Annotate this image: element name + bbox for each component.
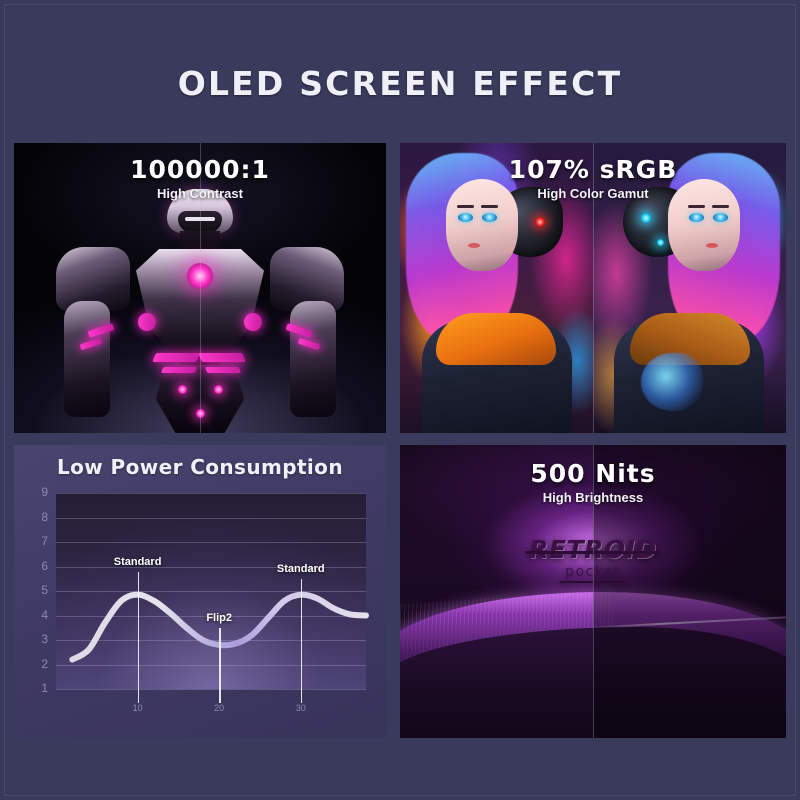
y-tick-4: 4 <box>26 608 48 622</box>
power-curve <box>56 493 366 689</box>
y-tick-6: 6 <box>26 559 48 573</box>
marker-label-standard: Standard <box>114 556 162 568</box>
power-chart: 987654321 102030 <box>14 485 386 738</box>
y-tick-3: 3 <box>26 632 48 646</box>
gamut-split-divider <box>593 143 594 433</box>
y-tick-8: 8 <box>26 510 48 524</box>
brightness-compare-overlay <box>593 445 786 738</box>
x-tick-30: 30 <box>286 703 316 713</box>
marker-label-standard: Standard <box>277 563 325 575</box>
marker-line-standard <box>301 579 303 703</box>
gridline <box>56 689 366 690</box>
panel-high-contrast: 100000:1 High Contrast <box>14 143 386 433</box>
plot-area: StandardFlip2Standard <box>56 493 366 689</box>
y-tick-5: 5 <box>26 583 48 597</box>
chart-title: Low Power Consumption <box>14 455 386 479</box>
x-tick-10: 10 <box>123 703 153 713</box>
y-tick-7: 7 <box>26 534 48 548</box>
gamut-portrait-left <box>400 143 593 433</box>
gamut-portrait-right <box>593 143 786 433</box>
marker-line-flip2 <box>219 628 221 703</box>
panel-color-gamut: 107% sRGB High Color Gamut <box>400 143 786 433</box>
panel-high-brightness: RETROID pocket 500 Nits High Brightness <box>400 445 786 738</box>
y-tick-2: 2 <box>26 657 48 671</box>
cyberpunk-portrait-a <box>400 143 593 433</box>
y-tick-9: 9 <box>26 485 48 499</box>
page-title: OLED SCREEN EFFECT <box>0 64 800 103</box>
nits-split-divider <box>593 445 594 738</box>
cyberpunk-portrait-b <box>593 143 786 433</box>
x-tick-20: 20 <box>204 703 234 713</box>
contrast-split-divider <box>200 143 201 433</box>
product-feature-graphic: OLED SCREEN EFFECT <box>0 0 800 800</box>
panel-low-power: Low Power Consumption 987654321 102030 <box>14 445 386 738</box>
y-tick-1: 1 <box>26 681 48 695</box>
marker-label-flip2: Flip2 <box>206 612 232 624</box>
marker-line-standard <box>138 572 140 703</box>
